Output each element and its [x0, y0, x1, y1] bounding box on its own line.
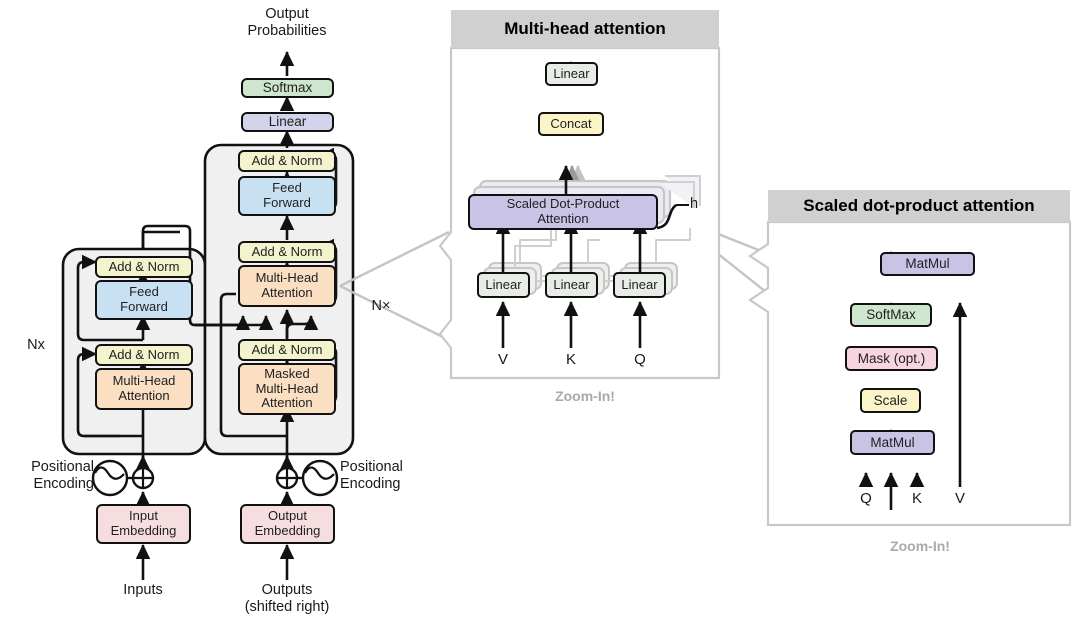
sdpa-mask[interactable]: Mask (opt.): [845, 346, 938, 371]
decoder-add-norm-bottom[interactable]: Add & Norm: [238, 339, 336, 361]
mha-input-q-label: Q: [625, 351, 655, 368]
softmax-block[interactable]: Softmax: [241, 78, 334, 98]
sdpa-panel-header: Scaled dot-product attention: [768, 190, 1070, 222]
diagram-canvas: Output Probabilities Softmax Linear Nx A…: [0, 0, 1080, 622]
mha-output-linear[interactable]: Linear: [545, 62, 598, 86]
sdpa-zoom-in-caption: Zoom-In!: [840, 538, 1000, 554]
sdpa-input-q-label: Q: [851, 490, 881, 507]
outputs-label: Outputs (shifted right): [231, 582, 343, 615]
decoder-cross-attention[interactable]: Multi-Head Attention: [238, 265, 336, 307]
sdpa-matmul-top[interactable]: MatMul: [880, 252, 975, 276]
sdpa-matmul-bottom[interactable]: MatMul: [850, 430, 935, 455]
encoder-add-norm-top[interactable]: Add & Norm: [95, 256, 193, 278]
decoder-add-norm-top[interactable]: Add & Norm: [238, 150, 336, 172]
decoder-masked-attention[interactable]: Masked Multi-Head Attention: [238, 363, 336, 415]
input-positional-encoding-label: Positional Encoding: [8, 459, 94, 492]
sdpa-softmax[interactable]: SoftMax: [850, 303, 932, 327]
mha-input-v-label: V: [488, 351, 518, 368]
output-positional-encoding-label: Positional Encoding: [340, 459, 432, 492]
encoder-feed-forward[interactable]: Feed Forward: [95, 280, 193, 320]
mha-concat[interactable]: Concat: [538, 112, 604, 136]
mha-scaled-dot-product-attention[interactable]: Scaled Dot-Product Attention: [468, 194, 658, 230]
output-linear-block[interactable]: Linear: [241, 112, 334, 132]
decoder-repeat-label: N×: [362, 298, 400, 315]
mha-linear-k[interactable]: Linear: [545, 272, 598, 298]
sdpa-input-k-label: K: [902, 490, 932, 507]
mha-input-k-label: K: [556, 351, 586, 368]
decoder-add-norm-middle[interactable]: Add & Norm: [238, 241, 336, 263]
output-embedding-block[interactable]: Output Embedding: [240, 504, 335, 544]
inputs-label: Inputs: [93, 582, 193, 599]
mha-linear-q[interactable]: Linear: [613, 272, 666, 298]
output-probabilities-label: Output Probabilities: [217, 6, 357, 39]
encoder-repeat-label: Nx: [16, 337, 56, 354]
decoder-feed-forward[interactable]: Feed Forward: [238, 176, 336, 216]
encoder-multi-head-attention[interactable]: Multi-Head Attention: [95, 368, 193, 410]
mha-linear-v[interactable]: Linear: [477, 272, 530, 298]
mha-zoom-in-caption: Zoom-In!: [505, 388, 665, 404]
sdpa-input-v-label: V: [945, 490, 975, 507]
input-embedding-block[interactable]: Input Embedding: [96, 504, 191, 544]
mha-heads-label: h: [684, 196, 704, 213]
multi-head-panel-header: Multi-head attention: [451, 10, 719, 48]
sdpa-scale[interactable]: Scale: [860, 388, 921, 413]
encoder-add-norm-bottom[interactable]: Add & Norm: [95, 344, 193, 366]
